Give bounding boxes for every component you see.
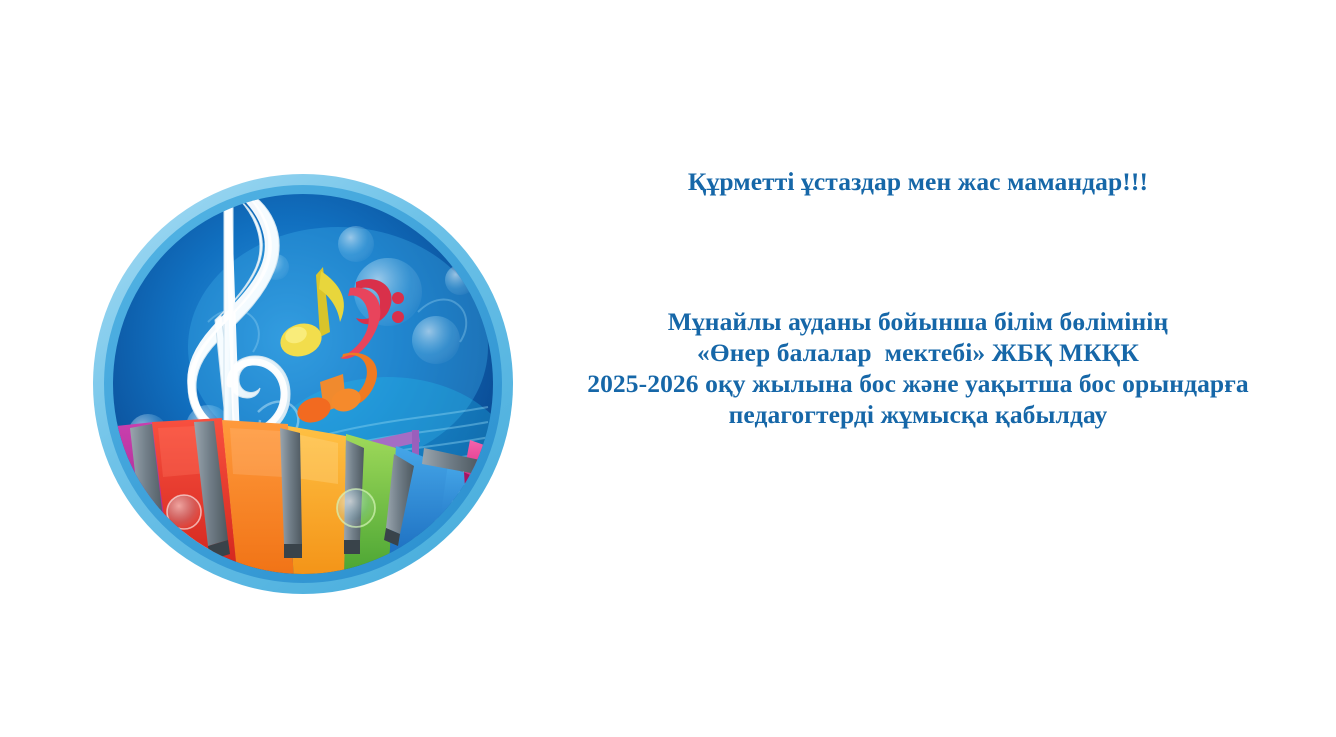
announcement-body: Мұнайлы ауданы бойынша білім бөлімінің «… [548, 198, 1288, 430]
announcement-slide: Құрметті ұстаздар мен жас мамандар!!! Мұ… [0, 0, 1336, 737]
music-school-emblem-illustration [88, 172, 518, 604]
announcement-line-1: Мұнайлы ауданы бойынша білім бөлімінің [548, 306, 1288, 337]
announcement-line-2: «Өнер балалар мектебі» ЖБҚ МКҚК [548, 337, 1288, 368]
announcement-text-column: Құрметті ұстаздар мен жас мамандар!!! Мұ… [548, 150, 1288, 430]
announcement-line-3: 2025-2026 оқу жылына бос және уақытша бо… [548, 368, 1288, 399]
announcement-line-4: педагогтерді жұмысқа қабылдау [548, 399, 1288, 430]
page-title: Құрметті ұстаздар мен жас мамандар!!! [548, 150, 1288, 198]
